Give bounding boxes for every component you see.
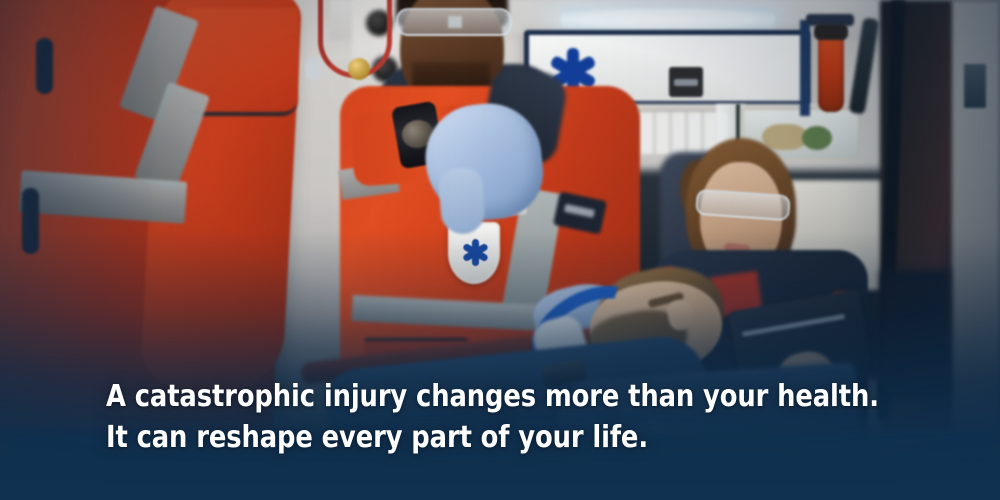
headline: A catastrophic injury changes more than … <box>106 376 906 458</box>
headline-line-1: A catastrophic injury changes more than … <box>106 376 870 417</box>
star-of-life-icon <box>462 238 488 266</box>
hero-banner: A catastrophic injury changes more than … <box>0 0 1000 500</box>
jacket-loop <box>36 38 53 94</box>
wall-switch-icon <box>962 62 988 110</box>
stethoscope-earpiece <box>306 58 322 80</box>
wall-blue-strip <box>800 20 810 116</box>
stethoscope-bell <box>348 58 370 80</box>
emergency-hammer-icon <box>818 26 844 112</box>
ceiling-light-icon <box>560 8 775 30</box>
jacket-loop <box>22 188 39 254</box>
glove-thumb <box>438 167 486 236</box>
goggle-bridge <box>448 16 462 28</box>
headline-line-2: It can reshape every part of your life. <box>106 417 870 458</box>
cabinet-latch-icon <box>669 67 703 97</box>
